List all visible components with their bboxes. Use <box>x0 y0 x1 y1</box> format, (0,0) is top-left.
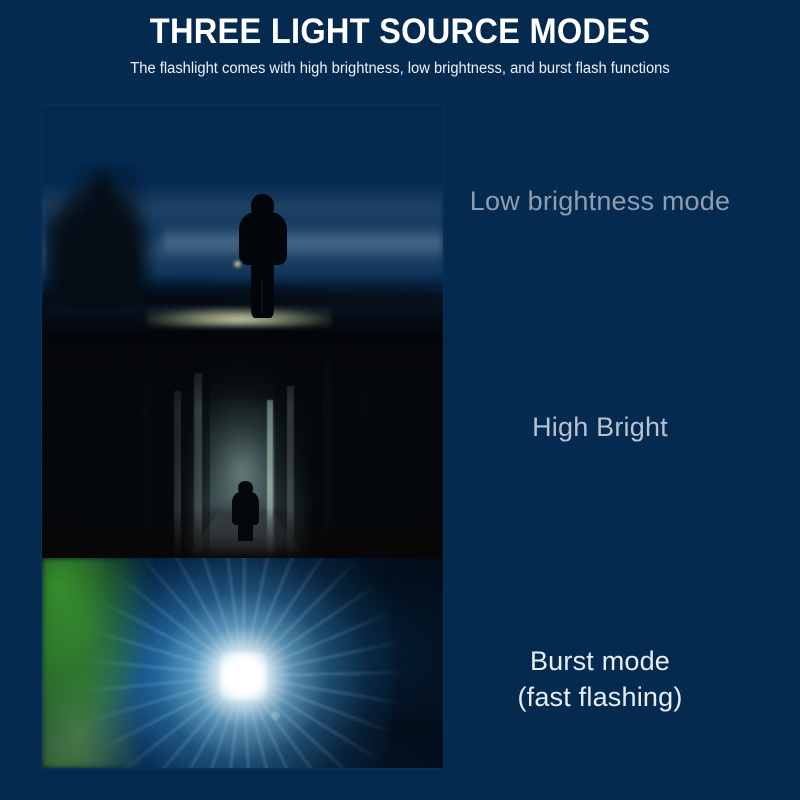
page-subtitle: The flashlight comes with high brightnes… <box>20 53 780 79</box>
torso <box>239 212 287 264</box>
person-silhouette <box>230 481 260 540</box>
mode-photo-stack <box>42 105 443 768</box>
lens-flare-spot <box>271 711 280 720</box>
person-silhouette <box>236 194 288 319</box>
legs <box>251 261 274 318</box>
page-title: THREE LIGHT SOURCE MODES <box>28 0 772 53</box>
photo-burst-mode <box>42 558 443 768</box>
torso <box>232 492 258 525</box>
hand-light <box>233 260 241 269</box>
label-high-bright-mode: High Bright <box>440 412 760 443</box>
label-burst-line2: (fast flashing) <box>517 682 682 712</box>
label-burst-mode: Burst mode (fast flashing) <box>440 643 760 715</box>
legs <box>238 522 252 541</box>
label-low-brightness-mode: Low brightness mode <box>440 186 760 217</box>
flash-core <box>220 653 266 699</box>
pine-tree-silhouette <box>46 166 166 307</box>
dark-top-edge <box>42 332 443 409</box>
photo-high-bright-mode <box>42 332 443 558</box>
cloud-streak <box>162 223 443 259</box>
photo-low-brightness-mode <box>42 105 443 332</box>
label-burst-line1: Burst mode <box>530 646 670 676</box>
header: THREE LIGHT SOURCE MODES The flashlight … <box>0 0 800 95</box>
